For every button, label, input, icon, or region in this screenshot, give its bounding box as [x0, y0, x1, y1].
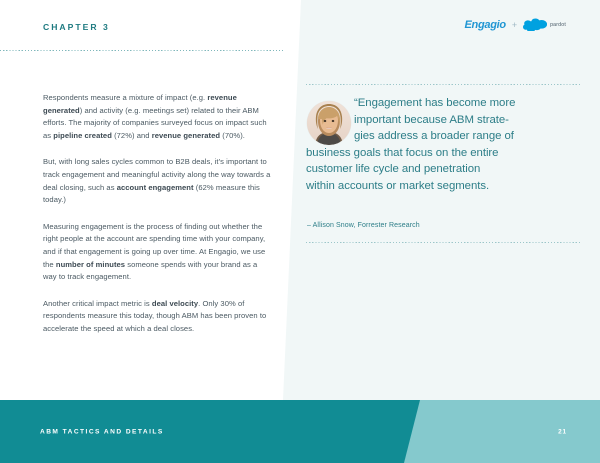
salesforce-cloud-icon: [523, 18, 547, 31]
quote-bottom-rule: [306, 242, 582, 243]
brand-logos: Engagio + pardot: [465, 18, 566, 31]
header-dotted-rule: [0, 50, 283, 51]
avatar: [307, 101, 351, 145]
pardot-wordmark: pardot: [550, 22, 566, 28]
body-text: Another critical impact metric is: [43, 299, 152, 308]
body-text: (72%) and: [112, 131, 152, 140]
plus-icon: +: [512, 20, 517, 30]
chapter-number: 3: [103, 22, 108, 32]
chapter-word: CHAPTER: [43, 22, 99, 32]
quote-line: customer life cycle and penetration: [306, 161, 586, 178]
quote-attribution: – Allison Snow, Forrester Research: [307, 222, 420, 229]
body-column: Respondents measure a mixture of impact …: [43, 92, 273, 336]
quote-line: within accounts or market segments.: [306, 178, 586, 195]
emphasis-text: pipeline created: [53, 131, 112, 140]
pullquote: “Engagement has become moreimportant bec…: [306, 95, 586, 195]
body-paragraph: But, with long sales cycles common to B2…: [43, 156, 273, 206]
page-footer: ABM TACTICS AND DETAILS 21: [0, 400, 600, 463]
body-text: (70%).: [220, 131, 245, 140]
page-canvas: CHAPTER 3 Engagio + pardot Respondents m…: [0, 0, 600, 463]
quote-top-rule: [306, 84, 582, 85]
emphasis-text: deal velocity: [152, 299, 198, 308]
footer-section-label: ABM TACTICS AND DETAILS: [40, 428, 164, 435]
emphasis-text: revenue generated: [152, 131, 220, 140]
body-paragraph: Measuring engagement is the process of f…: [43, 221, 273, 284]
chapter-heading: CHAPTER 3: [43, 22, 108, 32]
engagio-logo: Engagio: [465, 19, 506, 31]
emphasis-text: account engagement: [117, 183, 194, 192]
body-paragraph: Respondents measure a mixture of impact …: [43, 92, 273, 142]
body-text: Respondents measure a mixture of impact …: [43, 93, 207, 102]
body-paragraph: Another critical impact metric is deal v…: [43, 298, 273, 336]
quote-line: business goals that focus on the entire: [306, 145, 586, 162]
pardot-logo: pardot: [523, 18, 566, 31]
emphasis-text: number of minutes: [56, 260, 125, 269]
quote-line: “Engagement has become more: [306, 95, 586, 112]
page-number: 21: [558, 428, 567, 435]
